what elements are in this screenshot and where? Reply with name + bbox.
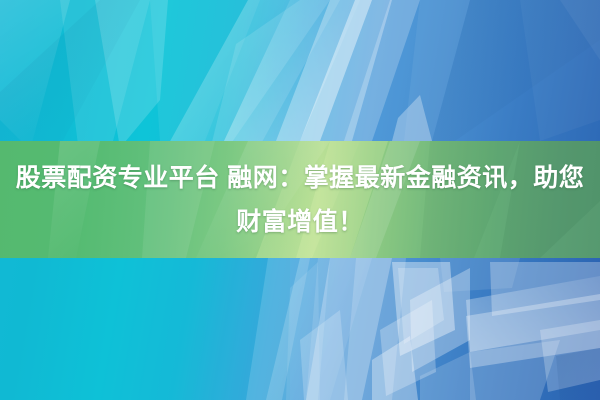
promo-banner: 股票配资专业平台 融网：掌握最新金融资讯，助您 财富增值！ bbox=[0, 0, 600, 400]
headline-line-1: 股票配资专业平台 融网：掌握最新金融资讯，助您 bbox=[16, 156, 584, 200]
headline-line-2: 财富增值！ bbox=[236, 200, 364, 244]
headline-block: 股票配资专业平台 融网：掌握最新金融资讯，助您 财富增值！ bbox=[0, 141, 600, 258]
